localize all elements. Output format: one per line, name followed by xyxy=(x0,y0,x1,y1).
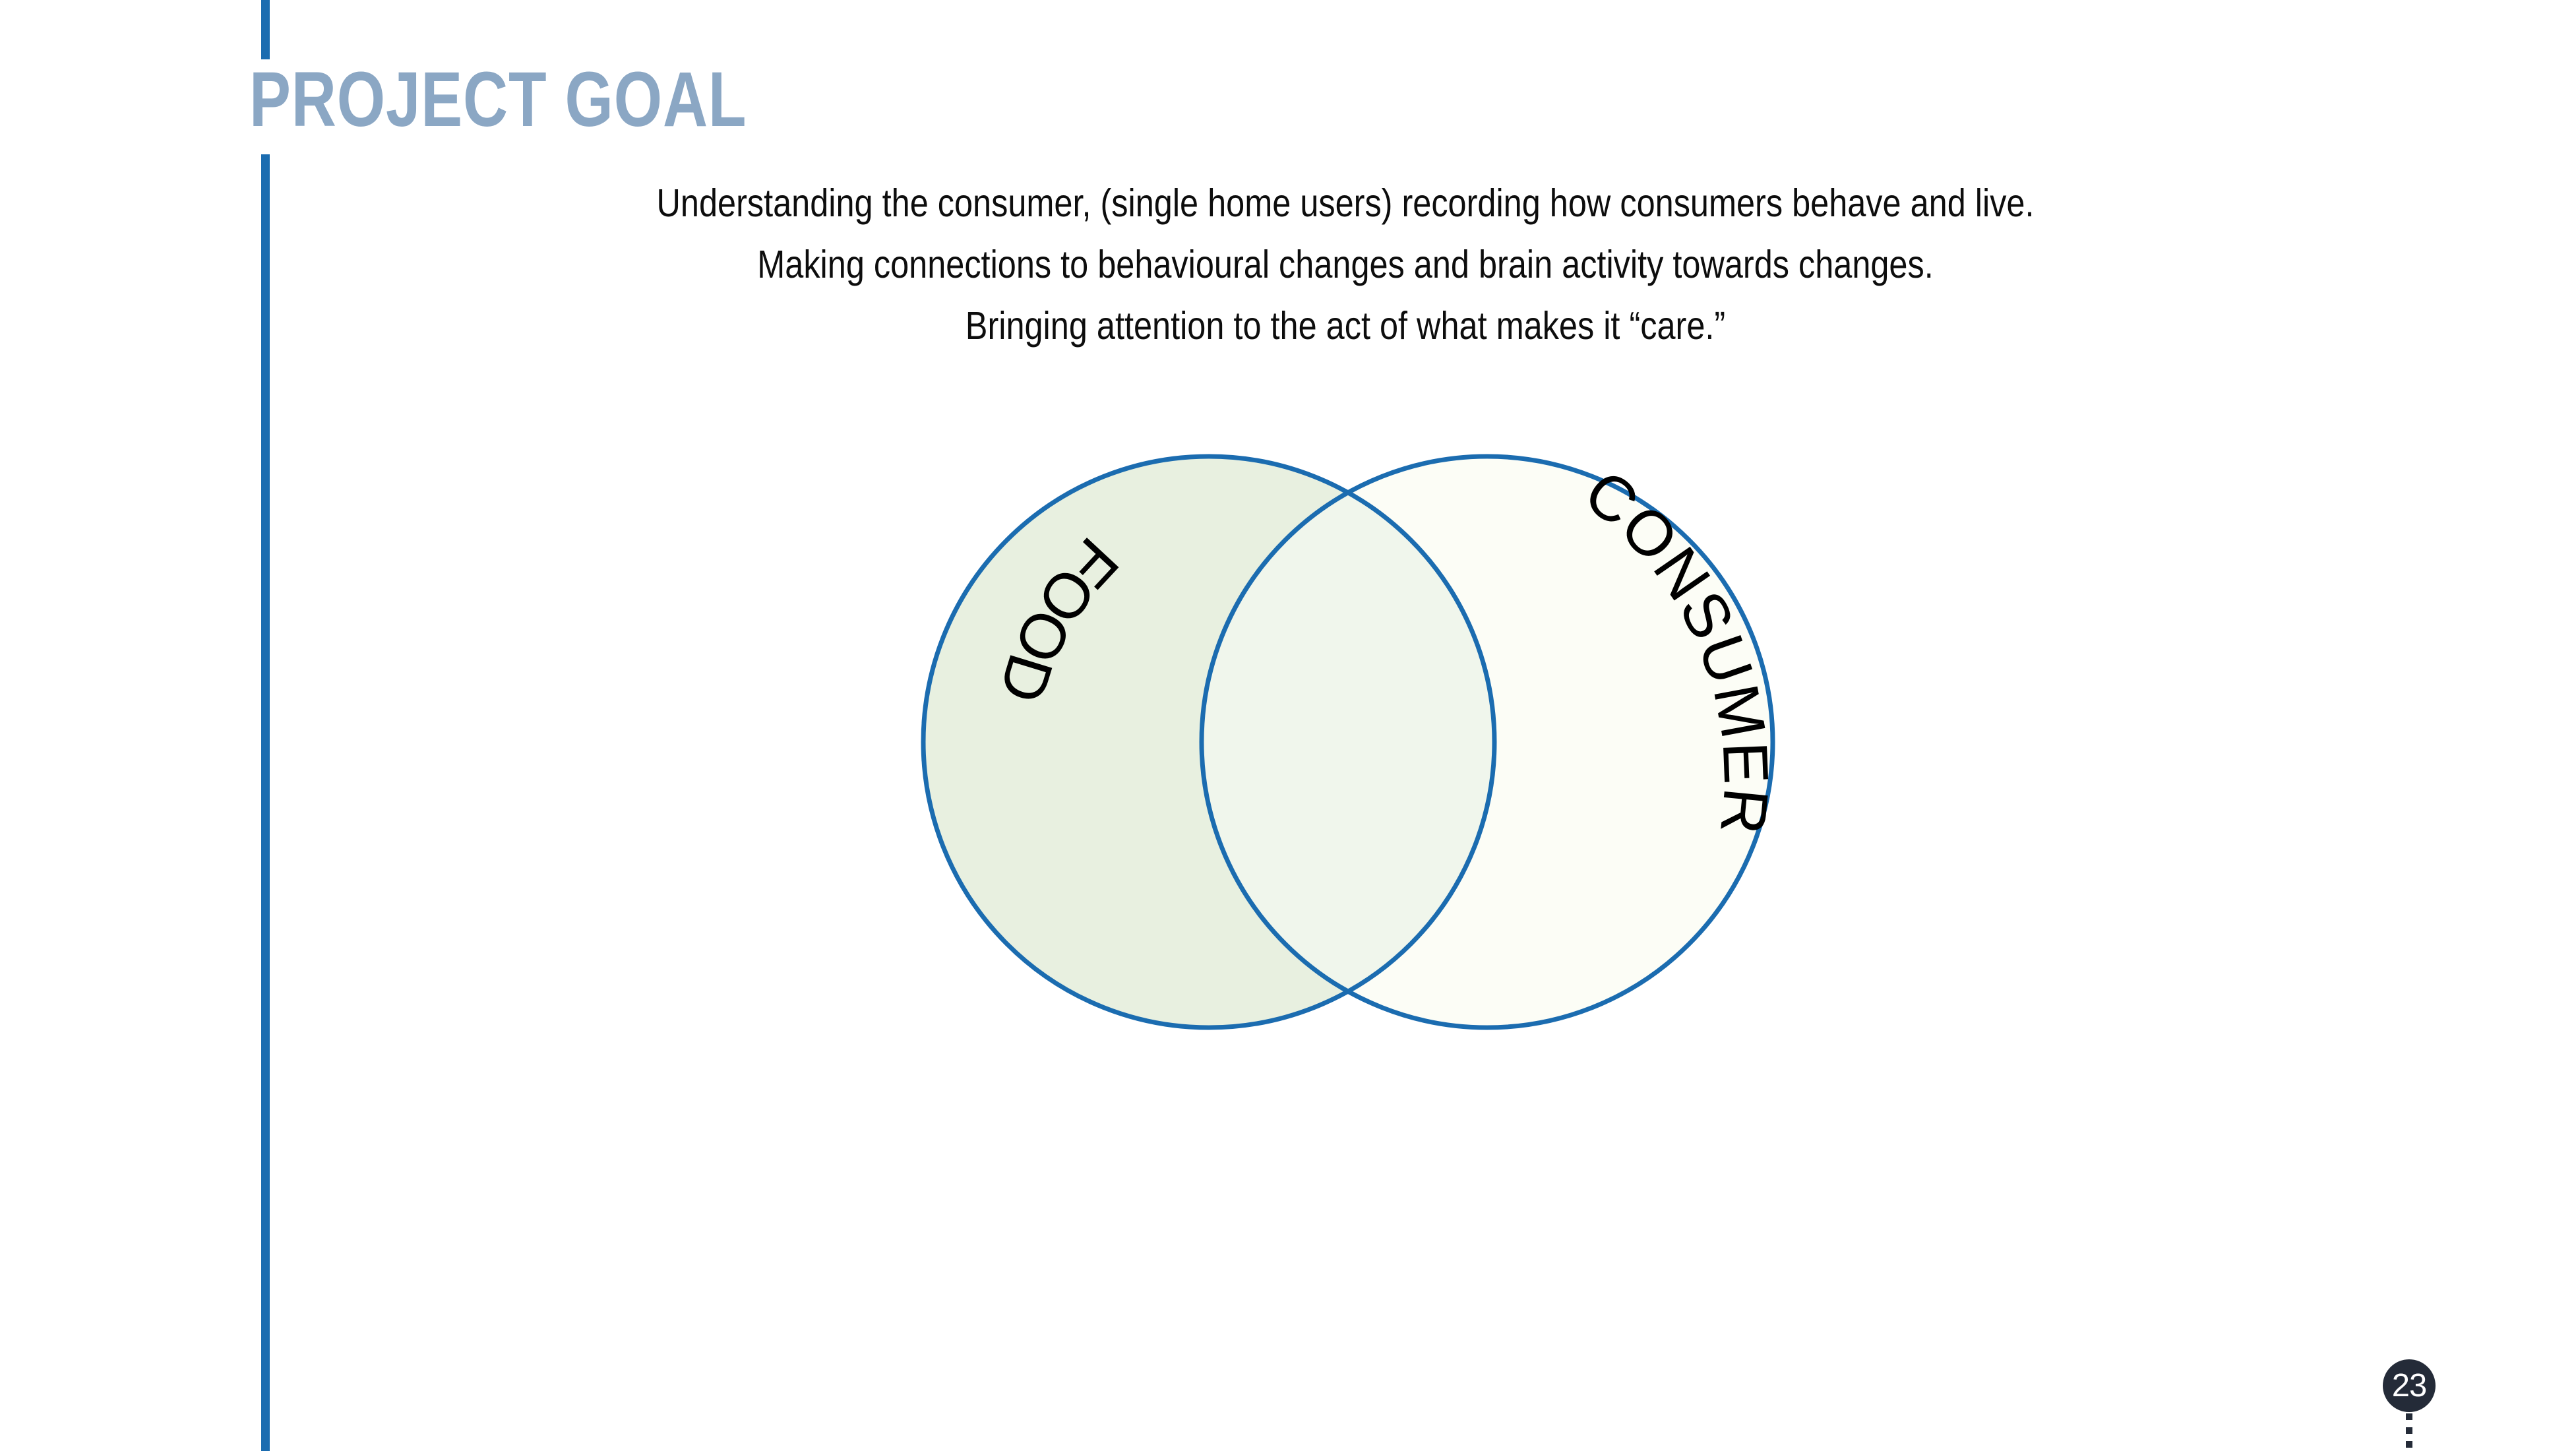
page-title: PROJECT GOAL xyxy=(249,61,747,139)
page-number-leader-dots xyxy=(2406,1413,2412,1451)
slide-canvas: PROJECT GOAL Understanding the consumer,… xyxy=(0,0,2576,1451)
venn-diagram: FOOD CONSUMER xyxy=(844,409,1873,1082)
accent-rule-bottom xyxy=(261,154,270,1451)
goal-line-2: Making connections to behavioural change… xyxy=(437,234,2253,295)
goal-line-1: Understanding the consumer, (single home… xyxy=(437,173,2253,234)
goal-line-3: Bringing attention to the act of what ma… xyxy=(437,295,2253,357)
goal-paragraph: Understanding the consumer, (single home… xyxy=(284,173,2407,357)
page-number-badge: 23 xyxy=(2383,1359,2436,1412)
accent-rule-top xyxy=(261,0,270,59)
